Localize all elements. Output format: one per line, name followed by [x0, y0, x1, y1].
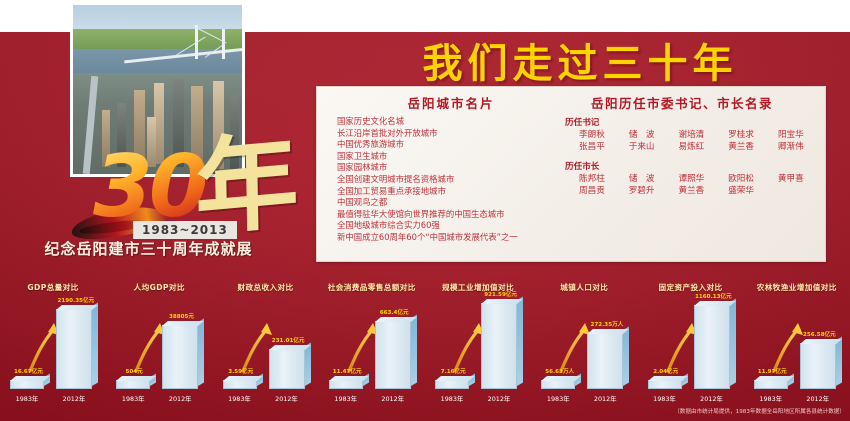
bar-face	[329, 380, 363, 389]
bar: 3.59亿元1983年	[223, 380, 257, 389]
bar-side	[623, 327, 629, 386]
bar-top	[329, 376, 369, 381]
bar-face	[587, 333, 623, 389]
list-item: 最值得驻华大使馆向世界推荐的中国生态城市	[337, 209, 571, 221]
page-title: 我们走过三十年	[330, 31, 830, 89]
bar-value-label: 3.59亿元	[228, 367, 253, 375]
statistics-chart-strip: GDP总量对比16.67亿元1983年2190.35亿元2012年人均GDP对比…	[0, 282, 850, 407]
list-item: 长江沿岸首批对外开放城市	[337, 128, 571, 140]
chart-footnote: （数据由市统计局提供，1983年数据全岳阳地区所属各县统计数据）	[620, 407, 845, 415]
bar-face	[162, 325, 198, 389]
bar-value-label: 56.63万人	[545, 367, 574, 375]
bar-top	[56, 305, 98, 310]
poster-canvas: 30 1983~2013 年 纪念岳阳建市三十周年成就展 我们走过三十年 岳阳城…	[0, 0, 850, 421]
name-row: 李朗秋 储 波 谢培清 罗桂求 阳宝华	[579, 130, 817, 142]
bar-category-label: 2012年	[594, 394, 617, 403]
bar-chart-3: 财政总收入对比3.59亿元1983年231.01亿元2012年	[213, 282, 319, 407]
bar-value-label: 504元	[125, 367, 142, 375]
bar-category-label: 2012年	[169, 394, 192, 403]
name-row: 陈邦柱 储 波 谭照华 欧阳松 黄甲喜	[579, 174, 817, 186]
city-cards-list: 国家历史文化名城 长江沿岸首批对外开放城市 中国优秀旅游城市 国家卫生城市 国家…	[331, 116, 571, 244]
bar-chart-8: 农林牧渔业增加值对比11.97亿元1983年256.58亿元2012年	[744, 282, 850, 407]
bar-top	[435, 376, 475, 381]
leader-name: 张昌平	[579, 142, 626, 154]
leader-name: 谢培清	[678, 130, 725, 142]
bar-value-label: 38805元	[169, 312, 194, 320]
bar-category-label: 2012年	[488, 394, 511, 403]
bar-category-label: 1983年	[653, 394, 676, 403]
bar-value-label: 11.97亿元	[758, 367, 787, 375]
list-item: 国家历史文化名城	[337, 116, 571, 128]
chart-title: 农林牧渔业增加值对比	[744, 282, 850, 293]
bar-category-label: 2012年	[381, 394, 404, 403]
chart-plot-area: 11.47亿元1983年663.4亿元2012年	[319, 296, 425, 407]
bar-top	[162, 321, 204, 326]
exhibition-title: 纪念岳阳建市三十周年成就展	[26, 238, 271, 259]
bar-category-label: 2012年	[700, 394, 723, 403]
bar-chart-6: 城镇人口对比56.63万人1983年272.35万人2012年	[531, 282, 637, 407]
bar: 2190.35亿元2012年	[56, 309, 92, 389]
bar: 272.35万人2012年	[587, 333, 623, 389]
chart-title: 社会消费品零售总额对比	[319, 282, 425, 293]
bar-face	[375, 321, 411, 389]
bar-category-label: 1983年	[228, 394, 251, 403]
leader-name: 黄甲喜	[778, 174, 825, 186]
bar-face	[56, 309, 92, 389]
chart-plot-area: 16.67亿元1983年2190.35亿元2012年	[0, 296, 106, 407]
bar-face	[694, 305, 730, 389]
bar-side	[198, 319, 204, 386]
leader-name: 罗桂求	[728, 130, 775, 142]
leader-name: 储 波	[629, 174, 676, 186]
bar-side	[92, 303, 98, 386]
bar-value-label: 272.35万人	[590, 320, 623, 328]
bar-value-label: 2.04亿元	[653, 367, 678, 375]
bar: 16.67亿元1983年	[10, 380, 44, 389]
bar-top	[223, 376, 263, 381]
list-item: 国家园林城市	[337, 162, 571, 174]
chart-plot-area: 504元1983年38805元2012年	[106, 296, 212, 407]
bar-value-label: 7.16亿元	[441, 367, 466, 375]
bar-category-label: 1983年	[122, 394, 145, 403]
city-cards-column: 岳阳城市名片 国家历史文化名城 长江沿岸首批对外开放城市 中国优秀旅游城市 国家…	[331, 93, 571, 244]
chart-plot-area: 11.97亿元1983年256.58亿元2012年	[744, 296, 850, 407]
bar-face	[481, 303, 517, 389]
bar-top	[10, 376, 50, 381]
leader-name: 欧阳松	[728, 174, 775, 186]
bar: 11.47亿元1983年	[329, 380, 363, 389]
bar-side	[730, 299, 736, 386]
leader-name: 黄兰香	[728, 142, 775, 154]
bar: 256.58亿元2012年	[800, 343, 836, 389]
chart-plot-area: 56.63万人1983年272.35万人2012年	[531, 296, 637, 407]
bar-face	[648, 380, 682, 389]
leader-name: 于来山	[629, 142, 676, 154]
leader-name: 盛荣华	[728, 186, 775, 198]
chart-title: 城镇人口对比	[531, 282, 637, 293]
bar-chart-7: 固定资产投入对比2.04亿元1983年1160.13亿元2012年	[638, 282, 744, 407]
leader-name: 易炼红	[678, 142, 725, 154]
bar-category-label: 2012年	[275, 394, 298, 403]
chart-plot-area: 2.04亿元1983年1160.13亿元2012年	[638, 296, 744, 407]
list-item: 全国地级城市综合实力60强	[337, 220, 571, 232]
bar: 7.16亿元1983年	[435, 380, 469, 389]
bar-top	[694, 301, 736, 306]
list-item: 国家卫生城市	[337, 151, 571, 163]
info-panel: 岳阳城市名片 国家历史文化名城 长江沿岸首批对外开放城市 中国优秀旅游城市 国家…	[316, 86, 826, 262]
bar-category-label: 2012年	[63, 394, 86, 403]
list-item: 中国观鸟之都	[337, 197, 571, 209]
bar-top	[648, 376, 688, 381]
bar-value-label: 231.01亿元	[272, 336, 305, 344]
bar-chart-2: 人均GDP对比504元1983年38805元2012年	[106, 282, 212, 407]
bar-top	[587, 329, 629, 334]
leader-name: 储 波	[629, 130, 676, 142]
leaders-roster-column: 岳阳历任市委书记、市长名录 历任书记 李朗秋 储 波 谢培清 罗桂求 阳宝华 张…	[547, 93, 817, 204]
bar-face	[800, 343, 836, 389]
bar-side	[517, 297, 523, 386]
bar-face	[435, 380, 469, 389]
bar-top	[375, 317, 417, 322]
leader-name: 谭照华	[678, 174, 725, 186]
bar: 38805元2012年	[162, 325, 198, 389]
chart-plot-area: 3.59亿元1983年231.01亿元2012年	[213, 296, 319, 407]
leader-name: 陈邦柱	[579, 174, 626, 186]
bar-value-label: 2190.35亿元	[57, 296, 94, 304]
bar: 11.97亿元1983年	[754, 380, 788, 389]
bar-top	[116, 376, 156, 381]
leader-name: 卿渐伟	[778, 142, 825, 154]
bar: 921.59亿元2012年	[481, 303, 517, 389]
leader-name: 罗碧升	[629, 186, 676, 198]
bar-category-label: 1983年	[547, 394, 570, 403]
bar-category-label: 1983年	[334, 394, 357, 403]
bar-value-label: 1160.13亿元	[695, 292, 732, 300]
bar-top	[269, 345, 311, 350]
bar-category-label: 2012年	[806, 394, 829, 403]
chart-title: 财政总收入对比	[213, 282, 319, 293]
bar-face	[223, 380, 257, 389]
bar-top	[800, 339, 842, 344]
chart-plot-area: 7.16亿元1983年921.59亿元2012年	[425, 296, 531, 407]
bar-face	[754, 380, 788, 389]
bar-value-label: 921.59亿元	[484, 290, 517, 298]
list-item: 全国创建文明城市提名资格城市	[337, 174, 571, 186]
bar-value-label: 16.67亿元	[14, 367, 43, 375]
list-item: 中国优秀旅游城市	[337, 139, 571, 151]
bar-chart-4: 社会消费品零售总额对比11.47亿元1983年663.4亿元2012年	[319, 282, 425, 407]
leader-name: 周昌贡	[579, 186, 626, 198]
name-row: 张昌平 于来山 易炼红 黄兰香 卿渐伟	[579, 142, 817, 154]
bar: 2.04亿元1983年	[648, 380, 682, 389]
anniversary-number: 30	[93, 144, 205, 230]
party-secretaries-group: 历任书记 李朗秋 储 波 谢培清 罗桂求 阳宝华 张昌平 于来山 易炼红 黄兰香…	[565, 116, 817, 153]
bar: 663.4亿元2012年	[375, 321, 411, 389]
bar-category-label: 1983年	[441, 394, 464, 403]
bar: 231.01亿元2012年	[269, 349, 305, 389]
leader-name: 李朗秋	[579, 130, 626, 142]
bar-top	[541, 376, 581, 381]
bar-chart-5: 规模工业增加值对比7.16亿元1983年921.59亿元2012年	[425, 282, 531, 407]
city-cards-title: 岳阳城市名片	[331, 93, 571, 112]
leaders-roster-title: 岳阳历任市委书记、市长名录	[547, 93, 817, 112]
bar: 1160.13亿元2012年	[694, 305, 730, 389]
leader-name: 阳宝华	[778, 130, 825, 142]
bar-top	[754, 376, 794, 381]
mayors-group: 历任市长 陈邦柱 储 波 谭照华 欧阳松 黄甲喜 周昌贡 罗碧升 黄兰香 盛荣华	[565, 160, 817, 197]
bar-face	[269, 349, 305, 389]
bar-chart-1: GDP总量对比16.67亿元1983年2190.35亿元2012年	[0, 282, 106, 407]
bar-value-label: 256.58亿元	[803, 330, 836, 338]
name-row: 周昌贡 罗碧升 黄兰香 盛荣华	[579, 186, 817, 198]
bar: 504元1983年	[116, 380, 150, 389]
bar-category-label: 1983年	[759, 394, 782, 403]
bar-side	[836, 337, 842, 386]
group-label: 历任市长	[565, 160, 817, 172]
bar-face	[10, 380, 44, 389]
chart-title: 人均GDP对比	[106, 282, 212, 293]
group-label: 历任书记	[565, 116, 817, 128]
list-item: 全国加工贸易重点承接地城市	[337, 186, 571, 198]
bar: 56.63万人1983年	[541, 380, 575, 389]
chart-title: GDP总量对比	[0, 282, 106, 293]
list-item: 新中国成立60周年60个“中国城市发展代表”之一	[337, 232, 571, 244]
bar-value-label: 663.4亿元	[380, 308, 409, 316]
leader-name: 黄兰香	[678, 186, 725, 198]
bar-face	[541, 380, 575, 389]
bar-category-label: 1983年	[16, 394, 39, 403]
bar-top	[481, 299, 523, 304]
bar-side	[411, 315, 417, 386]
bar-value-label: 11.47亿元	[333, 367, 362, 375]
bar-face	[116, 380, 150, 389]
